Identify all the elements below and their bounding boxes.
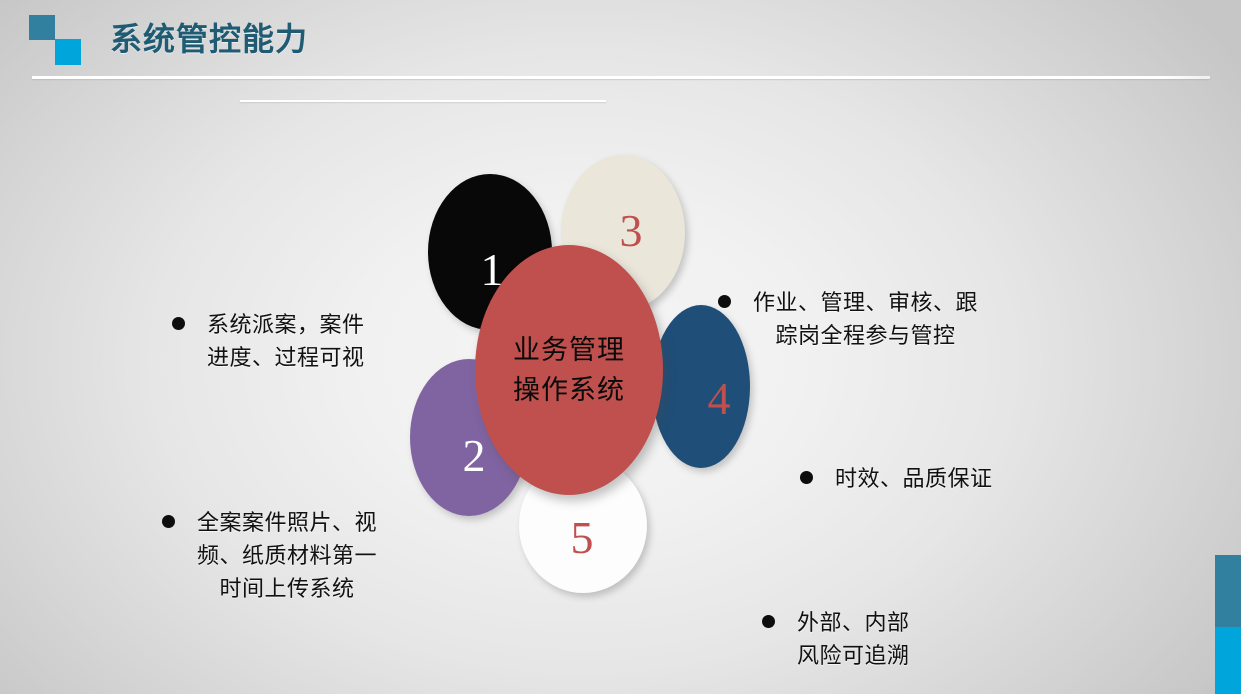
bullet-icon: [172, 317, 185, 330]
petal-4-number: 4: [708, 376, 731, 422]
title-divider: [32, 76, 1210, 79]
secondary-divider: [240, 100, 606, 102]
callout-2-line3: 时间上传系统: [220, 576, 355, 601]
callout-4-text: 时效、品质保证: [835, 462, 993, 495]
callout-5-line2: 风险可追溯: [797, 643, 910, 668]
callout-3-line2: 踪岗全程参与管控: [776, 323, 956, 348]
bullet-icon: [162, 515, 175, 528]
petal-5-number: 5: [571, 515, 594, 561]
callout-2: 全案案件照片、视 频、纸质材料第一 时间上传系统: [162, 506, 417, 605]
callout-4-line1: 时效、品质保证: [835, 466, 993, 491]
page-title: 系统管控能力: [110, 18, 308, 60]
petal-diagram: 1 3 2 4 5 业务管理 操作系统 系统派案，案件 进度、过程可视: [0, 110, 1241, 694]
petal-3-number: 3: [620, 208, 643, 254]
callout-3: 作业、管理、审核、跟 踪岗全程参与管控: [718, 286, 1038, 352]
petal-2-number: 2: [463, 433, 486, 479]
callout-2-text: 全案案件照片、视 频、纸质材料第一 时间上传系统: [197, 506, 377, 605]
core-label-line1: 业务管理: [513, 330, 625, 370]
bullet-icon: [762, 615, 775, 628]
callout-1-line2: 进度、过程可视: [207, 345, 365, 370]
slide-canvas: 系统管控能力 1 3 2 4 5 业务管理 操作系统 系统派案，案件: [0, 0, 1241, 694]
callout-2-line2: 频、纸质材料第一: [197, 543, 377, 568]
bullet-icon: [718, 295, 731, 308]
callout-5-text: 外部、内部 风险可追溯: [797, 606, 910, 672]
header-square-blue: [55, 39, 81, 65]
callout-4: 时效、品质保证: [800, 462, 1045, 495]
bullet-icon: [800, 471, 813, 484]
callout-5: 外部、内部 风险可追溯: [762, 606, 992, 672]
core-ellipse[interactable]: 业务管理 操作系统: [475, 245, 663, 495]
callout-1-line1: 系统派案，案件: [207, 312, 365, 337]
callout-1-text: 系统派案，案件 进度、过程可视: [207, 308, 365, 374]
header-square-teal: [29, 15, 55, 40]
callout-2-line1: 全案案件照片、视: [197, 510, 377, 535]
callout-1: 系统派案，案件 进度、过程可视: [172, 308, 412, 374]
callout-3-line1: 作业、管理、审核、跟: [753, 290, 978, 315]
callout-5-line1: 外部、内部: [797, 610, 910, 635]
core-label-line2: 操作系统: [513, 370, 625, 410]
callout-3-text: 作业、管理、审核、跟 踪岗全程参与管控: [753, 286, 978, 352]
